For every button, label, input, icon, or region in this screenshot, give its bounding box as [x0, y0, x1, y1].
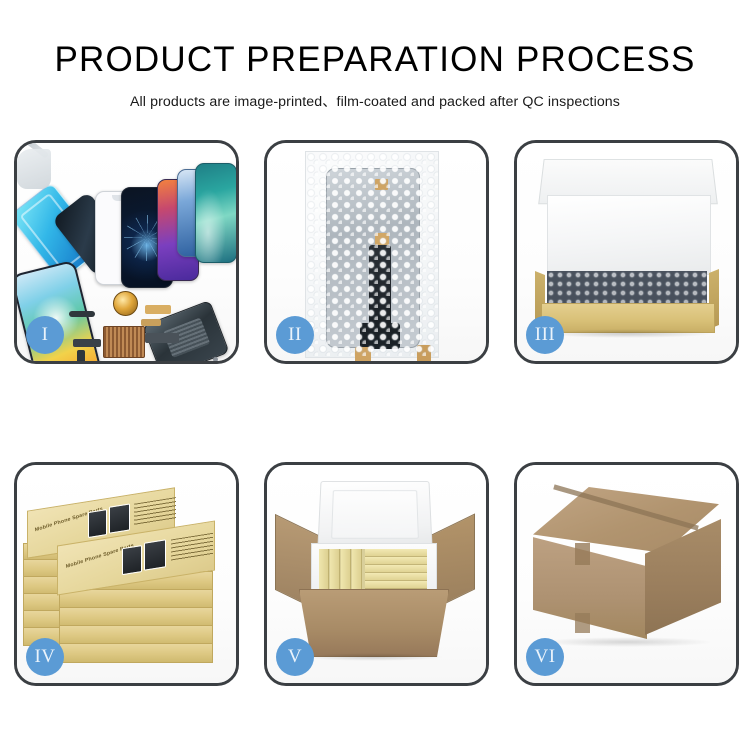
- bubble-texture-layer-2: [306, 152, 438, 357]
- button-component: [159, 361, 170, 364]
- packed-box-v1: [319, 549, 329, 589]
- carton-front-panel: [299, 589, 449, 657]
- step-badge-5: V: [276, 638, 314, 676]
- packed-retail-boxes: [319, 549, 427, 589]
- flex-cable-gold-2: [141, 319, 161, 326]
- stacked-box-r2: [59, 589, 213, 609]
- packed-box-h5: [365, 581, 427, 589]
- process-step-card-2: II: [264, 140, 489, 364]
- box-label-phone-img-2: [109, 503, 130, 533]
- packed-box-h4: [365, 573, 427, 581]
- stacked-box-r5: [59, 643, 213, 663]
- page-title: PRODUCT PREPARATION PROCESS: [0, 42, 750, 77]
- copper-mesh-part: [103, 326, 145, 358]
- foam-cooler-lid: [317, 481, 432, 549]
- packed-box-h2: [365, 557, 427, 565]
- white-foam-sheet: [547, 195, 711, 275]
- box-label-phone-img-4: [144, 539, 166, 570]
- process-step-card-5: V: [264, 462, 489, 686]
- phone-teal-gradient: [195, 163, 237, 263]
- sealed-carton-shadow: [541, 637, 713, 647]
- step-badge-3: III: [526, 316, 564, 354]
- carton-left-face: [533, 535, 647, 639]
- hand-holding-tool: [17, 149, 51, 189]
- stacked-box-r3: [59, 607, 213, 627]
- box-label-phone-img-1: [88, 509, 107, 538]
- packed-box-v4: [352, 549, 362, 589]
- process-step-card-3: III: [514, 140, 739, 364]
- step-badge-2: II: [276, 316, 314, 354]
- speaker-module-icon: [113, 291, 138, 316]
- process-step-card-4: Mobile Phone Spare Parts Mobile Phone Sp…: [14, 462, 239, 686]
- carton-tape-tab-top: [575, 543, 590, 565]
- carton-shadow: [303, 653, 443, 661]
- box-label-phone-img-3: [122, 545, 142, 575]
- packed-box-h1: [365, 549, 427, 557]
- stacked-box-r4: [59, 625, 213, 645]
- step-badge-6: VI: [526, 638, 564, 676]
- bubble-wrap-bag: [305, 151, 439, 358]
- step-badge-1: I: [26, 316, 64, 354]
- ribbon-cable-vertical: [77, 350, 85, 364]
- box-label-spec-lines-back: [134, 497, 176, 526]
- process-step-card-1: I: [14, 140, 239, 364]
- page-subtitle: All products are image-printed、film-coat…: [0, 77, 750, 111]
- carton-tape-tab-bottom: [575, 613, 590, 633]
- flex-cable-gold-1: [145, 305, 171, 314]
- screw-1: [213, 357, 218, 362]
- packed-box-v3: [341, 549, 351, 589]
- packed-box-v2: [330, 549, 340, 589]
- process-step-card-6: VI: [514, 462, 739, 686]
- flex-cable-dark: [145, 333, 179, 343]
- box-label-spec-lines-front: [171, 533, 213, 562]
- chip-component: [113, 363, 131, 364]
- page-header: PRODUCT PREPARATION PROCESS All products…: [0, 0, 750, 111]
- box-shadow: [543, 329, 713, 338]
- process-step-grid: I II: [14, 140, 736, 686]
- ribbon-cable: [73, 339, 101, 347]
- packed-box-h3: [365, 565, 427, 573]
- bubble-wrapped-contents: [547, 271, 707, 307]
- earpiece-part: [69, 311, 95, 317]
- step-badge-4: IV: [26, 638, 64, 676]
